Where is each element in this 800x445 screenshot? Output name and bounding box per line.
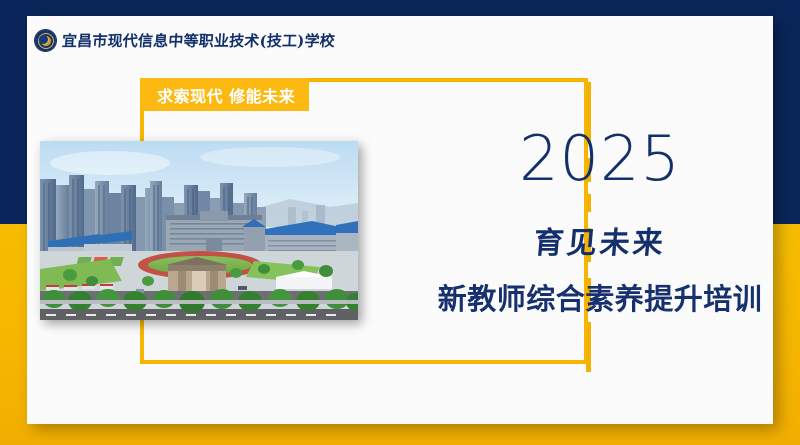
slogan-tag: 求索现代 修能未来: [140, 78, 309, 111]
presentation-slide: 宜昌市现代信息中等职业技术(技工)学校 求索现代 修能未来: [0, 0, 800, 445]
campus-photo: [40, 141, 358, 320]
campus-photo-illustration: [40, 141, 358, 320]
slide-content-card: 宜昌市现代信息中等职业技术(技工)学校 求索现代 修能未来: [27, 16, 773, 424]
school-emblem-icon: [35, 30, 56, 51]
slide-header: 宜昌市现代信息中等职业技术(技工)学校: [35, 30, 335, 51]
subtitle-label: 育见未来: [425, 218, 775, 262]
year-label: 2025: [427, 128, 773, 190]
main-title-label: 新教师综合素养提升培训: [427, 276, 773, 318]
title-group: 2025 育见未来 新教师综合素养提升培训: [427, 128, 773, 318]
school-name-label: 宜昌市现代信息中等职业技术(技工)学校: [61, 30, 335, 51]
